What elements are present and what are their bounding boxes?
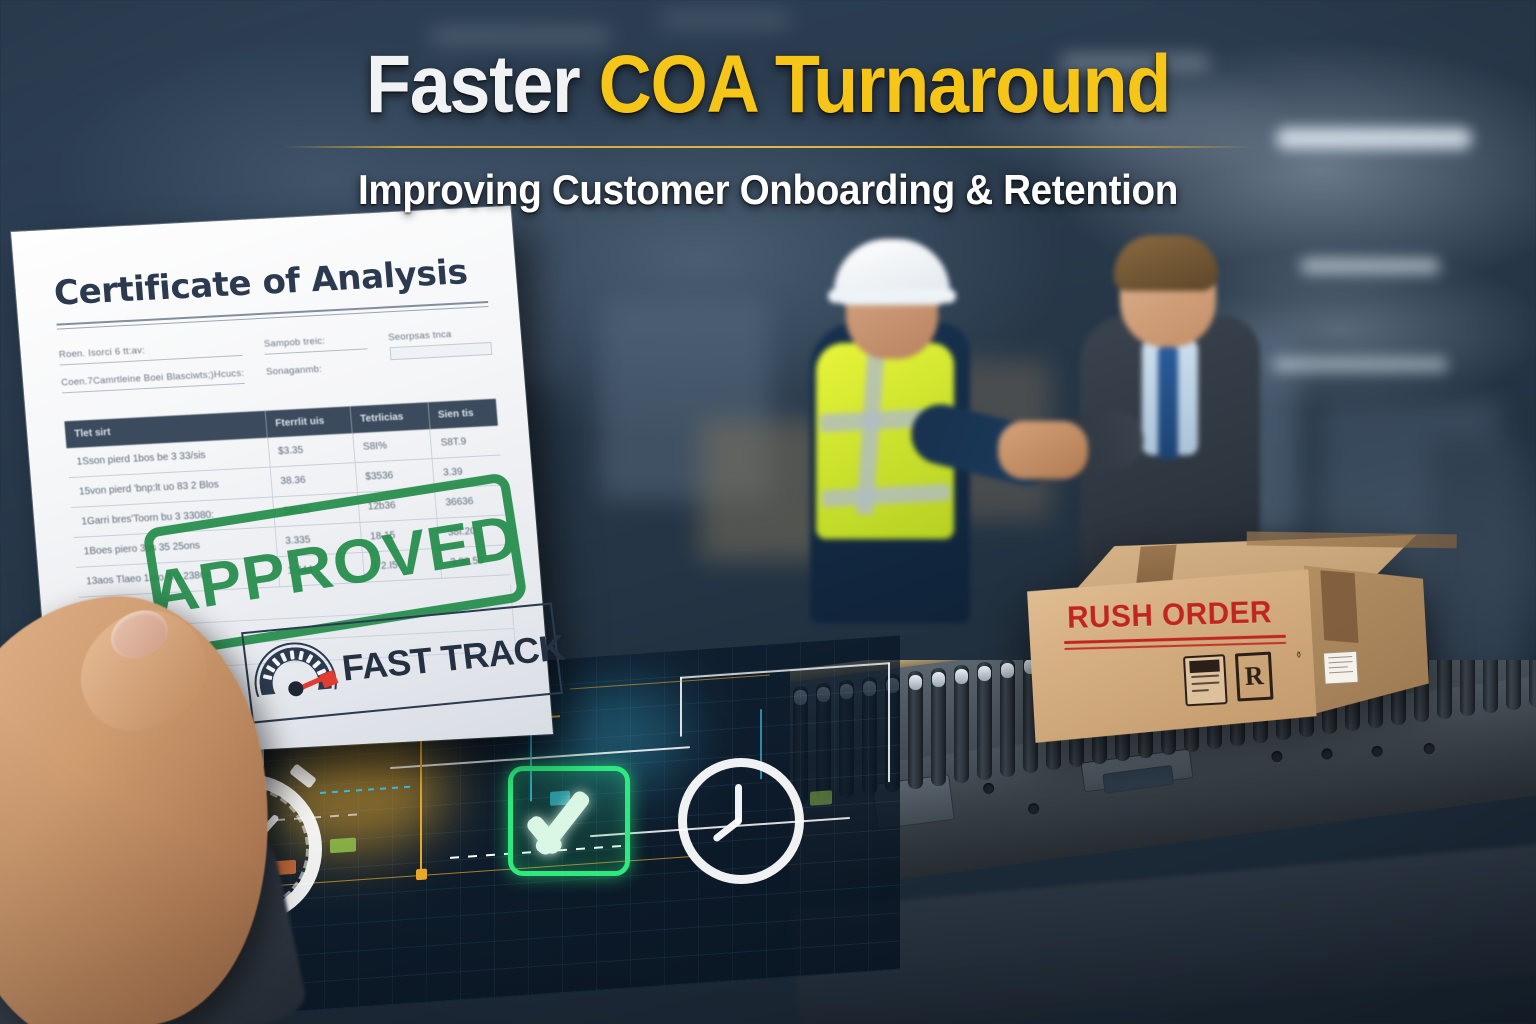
meta-column-left: Roen. Isorci 6 tt:av: Coen.7Camrtleine B… [59,340,246,405]
document-meta: Roen. Isorci 6 tt:av: Coen.7Camrtleine B… [59,327,495,405]
fast-track-text: FAST TRACK [340,627,567,690]
conveyor-roller [1460,660,1475,716]
ceiling-light [1276,128,1472,149]
hard-hat-brim [828,289,956,303]
package-handling-icon: R [1235,652,1274,702]
conveyor-roller [1529,660,1536,707]
box-side-tape [1320,570,1358,643]
necktie [1158,347,1178,459]
conveyor-roller [954,665,969,783]
conveyor-roller [977,662,992,780]
checkmark-icon [508,766,630,876]
box-tape [1247,531,1457,548]
address-label [1323,651,1359,685]
conveyor-roller [1000,660,1015,777]
conveyor-roller [931,668,946,786]
table-cell: S8I% [352,429,432,462]
table-cell: $3.35 [267,433,354,467]
ceiling-light [1300,258,1440,274]
conveyor-roller [1506,660,1521,710]
poster-canvas: RUSH ORDER R ⚱ [0,0,1536,1024]
speedometer-icon [255,644,333,703]
table-column-header: Sien tis [428,399,498,429]
fragile-glass-icon: ⚱ [1295,649,1319,694]
table-cell: 38.36 [270,463,357,497]
conveyor-roller [1437,660,1452,719]
conveyor-roller [908,671,923,789]
ceiling-light [430,30,610,43]
ceiling-light [1060,55,1210,69]
meta-column-right: Sampob treic: Sonaganmb: [263,333,370,394]
conveyor-roller [1483,660,1498,713]
table-column-header: Tetrlicias [350,402,430,433]
table-cell: S8T.9 [430,426,500,459]
shipping-barcode-label [1183,654,1228,706]
rush-order-text: RUSH ORDER [1067,594,1281,636]
ceiling-light [660,14,790,25]
rush-order-label: RUSH ORDER [1062,591,1286,653]
meta-column-far-right: Seorpsas tnca [388,327,495,388]
businessman-hair [1114,235,1218,291]
rush-order-box: RUSH ORDER R ⚱ [1017,529,1437,748]
clock-icon [678,758,804,884]
handshake-hands [998,421,1088,479]
